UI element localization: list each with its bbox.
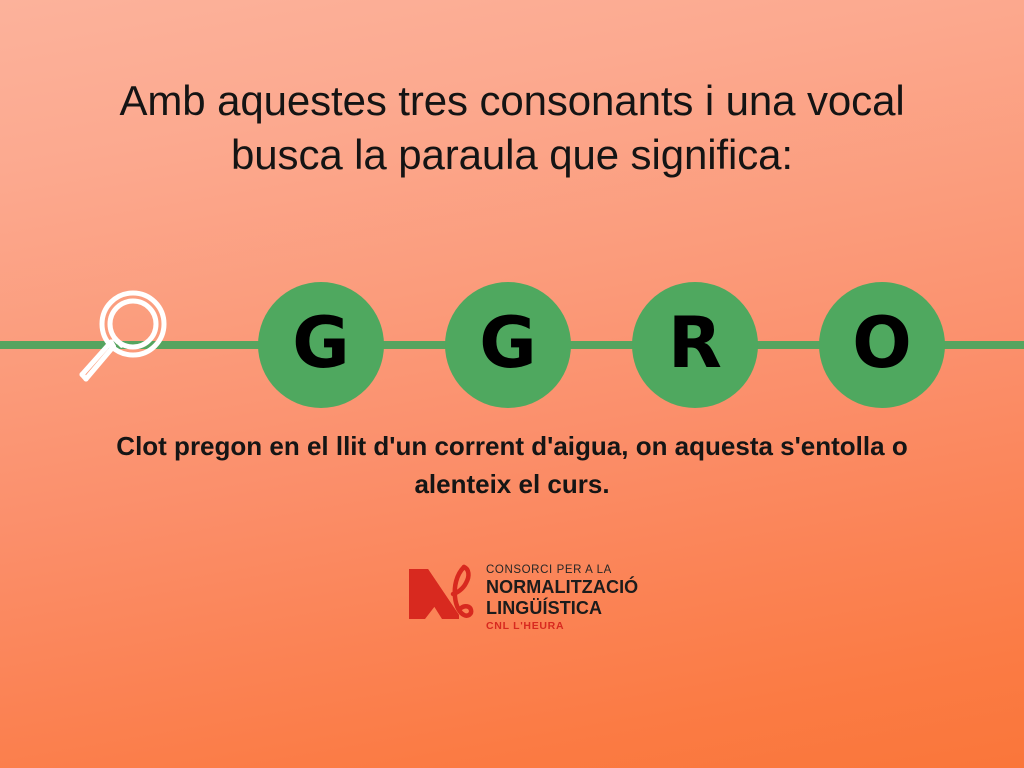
letter-circle-2-label: G <box>479 308 536 378</box>
logo-line-linguistica: LINGÜÍSTICA <box>486 598 638 618</box>
letter-circle-1: G <box>258 282 384 408</box>
letter-circle-2: G <box>445 282 571 408</box>
poster-canvas: Amb aquestes tres consonants i una vocal… <box>0 0 1024 768</box>
logo-text-block: CONSORCI PER A LA NORMALITZACIÓ LINGÜÍST… <box>486 561 638 634</box>
logo: CONSORCI PER A LA NORMALITZACIÓ LINGÜÍST… <box>406 561 624 643</box>
letter-circle-1-label: G <box>292 308 349 378</box>
logo-line-normalitzacio: NORMALITZACIÓ <box>486 577 638 597</box>
magnifying-glass-icon <box>70 284 180 396</box>
stylized-red-n-icon <box>406 563 480 625</box>
letter-circle-4: O <box>819 282 945 408</box>
clue-text: Clot pregon en el llit d'un corrent d'ai… <box>0 428 1024 503</box>
logo-line-cnl-heura: CNL L'HEURA <box>486 620 638 634</box>
letter-circle-3-label: R <box>668 308 722 378</box>
letter-circle-4-label: O <box>852 308 912 378</box>
logo-line-consorci: CONSORCI PER A LA <box>486 564 638 577</box>
page-title: Amb aquestes tres consonants i una vocal… <box>0 74 1024 182</box>
letter-circle-3: R <box>632 282 758 408</box>
